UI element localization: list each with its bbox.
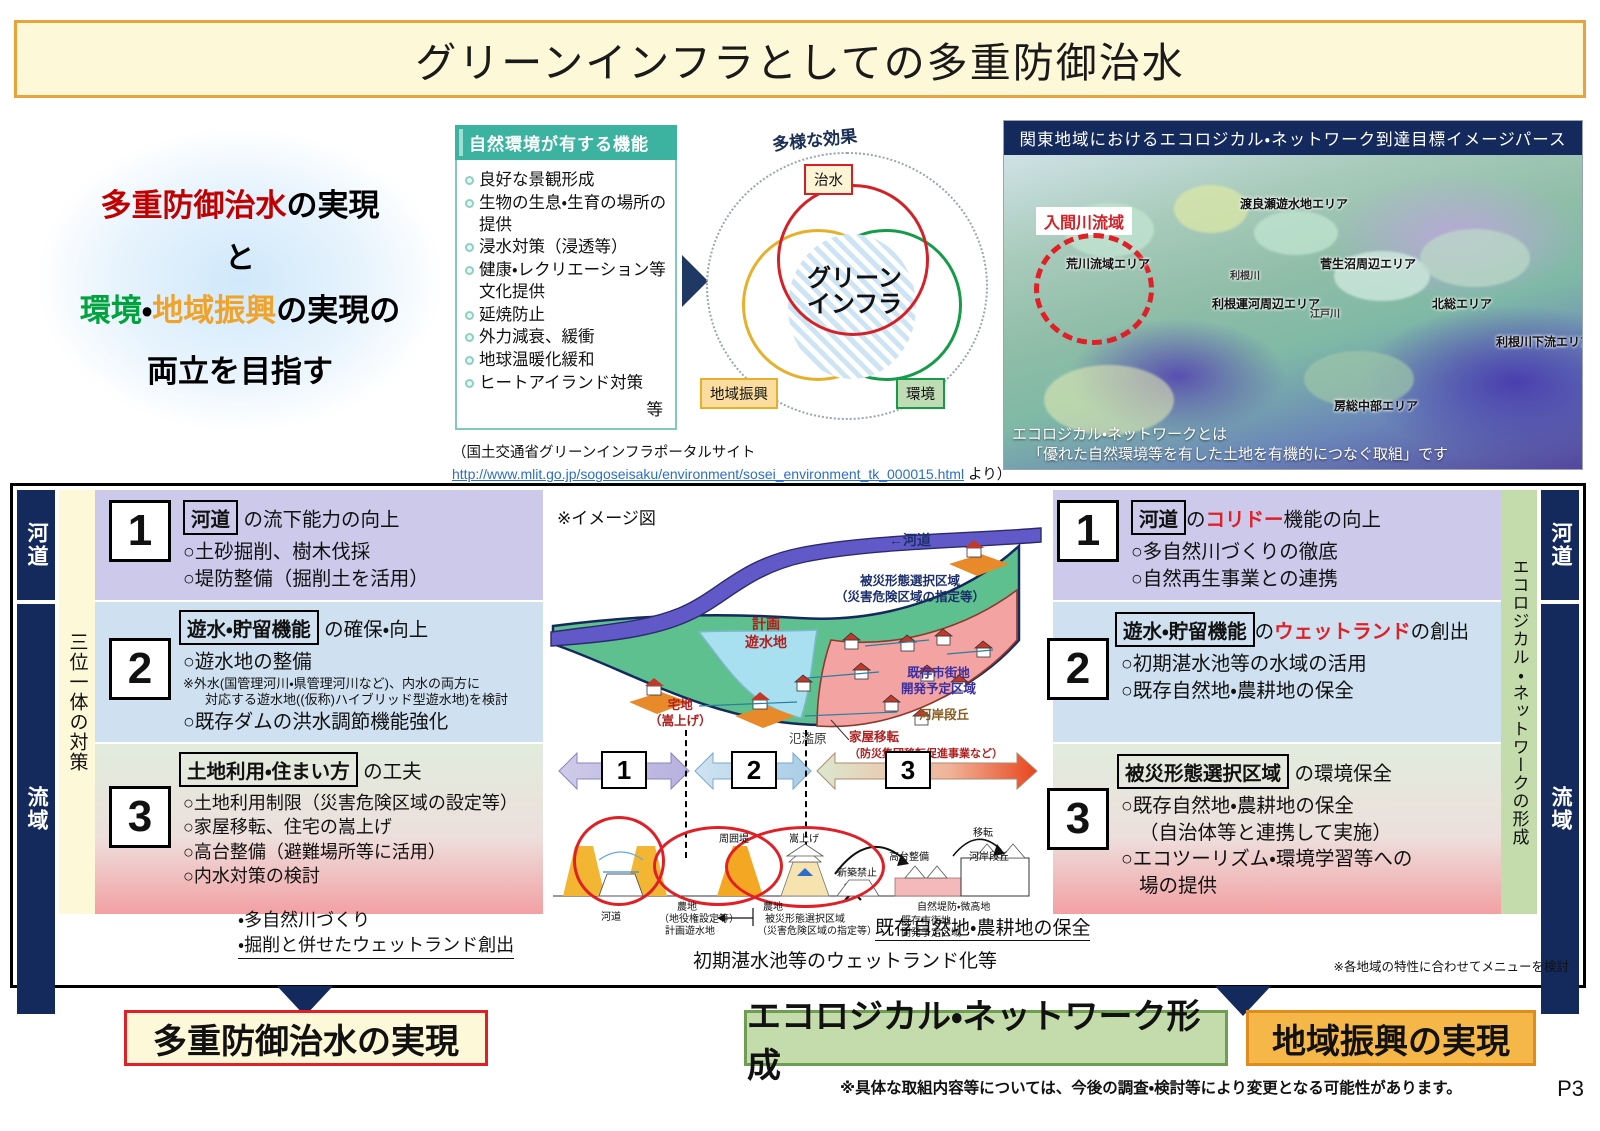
functions-box-body: 良好な景観形成 生物の生息・生育の場所の提供 浸水対策（浸透等） 健康・レクリエ… xyxy=(455,160,677,430)
right-row-2-heading-mid: の xyxy=(1255,621,1275,643)
annotation-left: ・多自然川づくり ・掘削と併せたウェットランド創出 xyxy=(238,908,514,959)
message-line-1: 多重防御治水の実現 xyxy=(30,180,450,225)
venn-tag-environment: 環境 xyxy=(896,378,945,409)
left-row-3-heading: 土地利用・住まい方 の工夫 xyxy=(179,752,518,787)
function-item: 浸水対策（浸透等） xyxy=(465,237,669,259)
function-item-label: 生物の生息・生育の場所の提供 xyxy=(479,193,669,237)
natural-environment-functions-box: 自然環境が有する機能 良好な景観形成 生物の生息・生育の場所の提供 浸水対策（浸… xyxy=(455,125,677,430)
message-line-1-rest: の実現 xyxy=(287,188,380,223)
river-perspective-svg xyxy=(549,520,1047,740)
left-row-2-bullet: ○遊水地の整備 xyxy=(183,649,508,676)
left-measure-row-3: 3 土地利用・住まい方 の工夫 ○土地利用制限（災害危険区域の設定等） ○家屋移… xyxy=(109,752,543,889)
venn-center-line-2: インフラ xyxy=(792,292,917,318)
left-measure-row-1: 1 河道 の流下能力の向上 ○土砂掘削、樹木伐採 ○堤防整備（掘削土を活用） xyxy=(109,500,539,592)
right-row-3-heading: 被災形態選択区域 の環境保全 xyxy=(1117,754,1412,789)
slide-page: グリーンインフラとしての多重防御治水 多重防御治水の実現 と 環境・地域振興の実… xyxy=(0,0,1600,1131)
map-caption: エコロジカル・ネットワークとは 「優れた自然環境等を有した土地を有機的につなぐ取… xyxy=(1012,425,1576,466)
page-title: グリーンインフラとしての多重防御治水 xyxy=(415,29,1185,89)
function-item: ヒートアイランド対策 xyxy=(465,373,669,395)
map-area-label: 荒川流域エリア xyxy=(1066,255,1150,272)
right-row-3-bullet: 場の提供 xyxy=(1121,873,1412,900)
perspective-label-terrace: 河岸段丘 xyxy=(919,708,969,724)
bullet-dot-icon xyxy=(465,199,474,208)
left-row-2-note: ※外水(国管理河川・県管理河川など)、内水の両方に 対応する遊水地((仮称)ハイ… xyxy=(183,676,508,710)
right-row-2-content: 遊水・貯留機能のウェットランドの創出 ○初期湛水池等の水域の活用 ○既存自然地・… xyxy=(1109,612,1469,704)
map-area-label: 利根川下流エリア xyxy=(1496,333,1583,350)
left-row-2-heading: 遊水・貯留機能 の確保・向上 xyxy=(179,610,508,645)
message-line-3-orange: 地域振興 xyxy=(152,293,276,328)
left-row-3-heading-rest: の工夫 xyxy=(363,761,422,783)
function-item-label: 外力減衰、緩衝 xyxy=(479,327,595,349)
map-highlight-dashed-circle xyxy=(1034,233,1154,345)
message-line-3-green: 環境 xyxy=(80,293,142,328)
map-blob xyxy=(1254,211,1338,255)
annotation-right: 既存自然地・農耕地の保全 xyxy=(875,913,1090,941)
right-row-3-tag: 被災形態選択区域 xyxy=(1117,754,1289,789)
left-vbar-basin: 流域 xyxy=(17,604,55,1014)
function-item-label: 地球温暖化緩和 xyxy=(479,350,595,372)
left-row-2-note-line-2: 対応する遊水地((仮称)ハイブリッド型遊水地)を検討 xyxy=(183,692,508,709)
zone-range-arrows: 1 2 3 xyxy=(555,745,1041,797)
perspective-label-existing-city: 既存市街地 開発予定区域 xyxy=(901,666,976,697)
highlight-ellipse-channel xyxy=(573,816,665,906)
left-row-3-bullet: ○高台整備（避難場所等に活用） xyxy=(183,840,518,864)
left-row-2-note-line-1: ※外水(国管理河川・県管理河川など)、内水の両方に xyxy=(183,676,480,691)
zone-arrow-number-2: 2 xyxy=(731,751,777,789)
perspective-label-residential: 宅地 （嵩上げ） xyxy=(649,698,712,729)
page-number: P3 xyxy=(1557,1076,1584,1102)
right-measure-row-3: 3 被災形態選択区域 の環境保全 ○既存自然地・農耕地の保全 （自治体等と連携し… xyxy=(1047,754,1487,899)
bullet-dot-icon xyxy=(465,176,474,185)
right-row-3-bullet: （自治体等と連携して実施） xyxy=(1121,820,1412,847)
venn-center-line-1: グリーン xyxy=(792,266,917,292)
profile-label-natural-levee: 自然堤防・微高地 xyxy=(917,898,990,913)
left-row-3-bullet: ○内水対策の検討 xyxy=(183,864,518,888)
perspective-label-residential-l1: 宅地 xyxy=(668,698,693,712)
left-row-2-heading-rest: の確保・向上 xyxy=(324,619,428,641)
outcome-box-ecological-network: エコロジカル・ネットワーク形成 xyxy=(744,1010,1228,1066)
citation: （国土交通省グリーンインフラポータルサイト http://www.mlit.go… xyxy=(452,443,1011,486)
function-item: 健康・レクリエーション等文化提供 xyxy=(465,260,669,304)
venn-tag-regional: 地域振興 xyxy=(700,378,778,409)
right-row-1-content: 河道のコリドー機能の向上 ○多自然川づくりの徹底 ○自然再生事業との連携 xyxy=(1119,500,1381,592)
outcome-box-flood-control: 多重防御治水の実現 xyxy=(124,1010,488,1066)
annotation-note: ※各地域の特性に合わせてメニューを検討 xyxy=(1334,956,1569,975)
right-measure-row-1: 1 河道のコリドー機能の向上 ○多自然川づくりの徹底 ○自然再生事業との連携 xyxy=(1057,500,1487,592)
message-line-2: と xyxy=(30,233,450,277)
right-row-3-bullet: ○既存自然地・農耕地の保全 xyxy=(1121,793,1412,820)
right-row-1-heading-highlight: コリドー xyxy=(1206,509,1284,531)
right-row-1-bullet: ○自然再生事業との連携 xyxy=(1131,566,1381,593)
citation-line-1: （国土交通省グリーンインフラポータルサイト xyxy=(452,443,1011,464)
left-vbar-river-channel: 河道 xyxy=(17,490,55,600)
function-item-label: 良好な景観形成 xyxy=(479,170,595,192)
right-row-1-number: 1 xyxy=(1057,500,1119,562)
perspective-label-residential-l2: （嵩上げ） xyxy=(649,714,712,728)
profile-label-terrace: 河岸段丘 xyxy=(969,848,1009,863)
perspective-label-river: ←河道 xyxy=(889,532,931,550)
map-river-label: 利根川 xyxy=(1230,267,1260,282)
profile-label-highground: 高台整備 xyxy=(889,848,929,863)
right-row-2-heading: 遊水・貯留機能のウェットランドの創出 xyxy=(1115,612,1469,647)
map-area-label: 渡良瀬遊水地エリア xyxy=(1240,195,1348,212)
left-measure-row-2: 2 遊水・貯留機能 の確保・向上 ○遊水地の整備 ※外水(国管理河川・県管理河川… xyxy=(109,610,543,736)
perspective-label-relocation-l1: 家屋移転 xyxy=(849,730,899,744)
zone-arrow-number-1: 1 xyxy=(601,751,647,789)
map-area-label: 北総エリア xyxy=(1432,295,1492,312)
right-row-3-bullet: ○エコツーリズム・環境学習等への xyxy=(1121,846,1412,873)
profile-label-selected-zone-sub: （災害危険区域の指定等） xyxy=(757,922,877,937)
river-perspective-illustration: ←河道 被災形態選択区域 （災害危険区域の指定等） 計画 遊水地 宅地 （嵩上げ… xyxy=(549,520,1047,740)
map-highlight-label: 入間川流域 xyxy=(1036,207,1132,235)
left-row-1-number: 1 xyxy=(109,500,171,562)
map-header-title: 関東地域におけるエコロジカル・ネットワーク到達目標イメージパース xyxy=(1004,121,1582,155)
left-row-3-content: 土地利用・住まい方 の工夫 ○土地利用制限（災害危険区域の設定等） ○家屋移転、… xyxy=(171,752,518,889)
perspective-label-planned-retarding-l1: 計画 xyxy=(752,616,780,632)
functions-etc-label: 等 xyxy=(465,396,669,420)
right-measure-row-2: 2 遊水・貯留機能のウェットランドの創出 ○初期湛水池等の水域の活用 ○既存自然… xyxy=(1047,612,1487,704)
right-row-1-heading-mid: の xyxy=(1186,509,1206,531)
profile-label-channel: 河道 xyxy=(601,908,621,923)
outcome-box-regional-revitalization: 地域振興の実現 xyxy=(1246,1010,1536,1066)
left-row-3-bullet: ○土地利用制限（災害危険区域の設定等） xyxy=(183,791,518,815)
left-row-2-tag: 遊水・貯留機能 xyxy=(179,610,319,645)
perspective-label-planned-retarding: 計画 遊水地 xyxy=(745,616,787,651)
perspective-label-disaster-zone-l2: （災害危険区域の指定等） xyxy=(835,590,985,604)
function-item-label: 延焼防止 xyxy=(479,305,545,327)
function-item-label: 健康・レクリエーション等文化提供 xyxy=(479,260,669,304)
left-row-3-number: 3 xyxy=(109,786,171,848)
key-message: 多重防御治水の実現 と 環境・地域振興の実現の 両立を目指す xyxy=(30,180,450,391)
bullet-dot-icon xyxy=(465,379,474,388)
bullet-dot-icon xyxy=(465,333,474,342)
center-concept-diagram: ※イメージ図 xyxy=(549,490,1047,930)
map-blob xyxy=(1174,185,1248,233)
left-row-1-tag: 河道 xyxy=(183,500,238,535)
perspective-label-existing-city-l1: 既存市街地 xyxy=(907,666,970,680)
right-row-2-heading-highlight: ウェットランド xyxy=(1274,621,1411,643)
perspective-label-existing-city-l2: 開発予定区域 xyxy=(901,682,976,696)
annotation-left-line-2: ・掘削と併せたウェットランド創出 xyxy=(238,933,514,959)
bullet-dot-icon xyxy=(465,356,474,365)
profile-label-no-new-build: 新築禁止 xyxy=(837,864,877,879)
profile-label-embankment: 周囲堤 xyxy=(719,830,749,845)
profile-label-planned-retarding: 計画遊水地 xyxy=(665,922,715,937)
right-row-2-number: 2 xyxy=(1047,638,1109,700)
kanto-ecological-network-map: 関東地域におけるエコロジカル・ネットワーク到達目標イメージパース 入間川流域 渡… xyxy=(1003,120,1583,470)
cross-section-profile: 周囲堤 嵩上げ 新築禁止 高台整備 移転 河岸段丘 農地 農地 （地役権設定等）… xyxy=(549,800,1047,930)
venn-center-label: グリーン インフラ xyxy=(792,266,917,319)
map-blob xyxy=(1420,229,1530,287)
message-line-1-highlight: 多重防御治水 xyxy=(101,188,287,223)
left-row-2-bullet: ○既存ダムの洪水調節機能強化 xyxy=(183,709,508,736)
left-row-3-bullet: ○家屋移転、住宅の嵩上げ xyxy=(183,815,518,839)
right-row-2-heading-rest: の創出 xyxy=(1411,621,1470,643)
left-row-2-content: 遊水・貯留機能 の確保・向上 ○遊水地の整備 ※外水(国管理河川・県管理河川など… xyxy=(171,610,508,736)
function-item: 生物の生息・生育の場所の提供 xyxy=(465,193,669,237)
map-area-label: 房総中部エリア xyxy=(1334,397,1418,414)
right-row-3-number: 3 xyxy=(1047,788,1109,850)
right-row-1-tag: 河道 xyxy=(1131,500,1186,535)
left-row-2-number: 2 xyxy=(109,638,171,700)
page-title-bar: グリーンインフラとしての多重防御治水 xyxy=(14,20,1586,98)
right-vbar-river-channel: 河道 xyxy=(1541,490,1579,600)
left-vbar-theme: 三位一体の対策 xyxy=(59,490,95,914)
message-line-3-mid: ・ xyxy=(142,293,153,328)
map-area-label: 利根運河周辺エリア xyxy=(1212,295,1320,312)
measures-matrix: 河道 流域 三位一体の対策 1 河道 の流下能力の向上 ○土砂掘削、樹木伐採 ○… xyxy=(10,483,1586,988)
function-item-label: ヒートアイランド対策 xyxy=(479,373,643,395)
left-row-1-heading: 河道 の流下能力の向上 xyxy=(183,500,429,535)
right-row-1-heading-rest: 機能の向上 xyxy=(1284,509,1382,531)
left-row-1-bullet: ○土砂掘削、樹木伐採 xyxy=(183,539,429,566)
function-item: 外力減衰、緩衝 xyxy=(465,327,669,349)
map-caption-line-2: 「優れた自然環境等を有した土地を有機的につなぐ取組」です xyxy=(1012,445,1576,465)
map-area-label: 菅生沼周辺エリア xyxy=(1320,255,1416,272)
footer-note: ※具体な取組内容等については、今後の調査・検討等により変更となる可能性があります… xyxy=(840,1076,1462,1098)
venn-tag-flood-control: 治水 xyxy=(804,164,853,195)
right-row-3-content: 被災形態選択区域 の環境保全 ○既存自然地・農耕地の保全 （自治体等と連携して実… xyxy=(1109,754,1412,899)
right-vbar-basin: 流域 xyxy=(1541,604,1579,1014)
right-row-2-bullet: ○初期湛水池等の水域の活用 xyxy=(1121,651,1469,678)
perspective-label-disaster-zone: 被災形態選択区域 （災害危険区域の指定等） xyxy=(835,574,985,605)
perspective-label-planned-retarding-l2: 遊水地 xyxy=(745,634,787,650)
green-infrastructure-venn-diagram: 多様な効果 グリーン インフラ 治水 地域振興 環境 xyxy=(700,126,1000,426)
function-item-label: 浸水対策（浸透等） xyxy=(479,237,628,259)
function-item: 延焼防止 xyxy=(465,305,669,327)
function-item: 良好な景観形成 xyxy=(465,170,669,192)
map-caption-line-1: エコロジカル・ネットワークとは xyxy=(1012,425,1576,445)
right-row-1-heading: 河道のコリドー機能の向上 xyxy=(1131,500,1381,535)
right-vbar-theme: エコロジカル・ネットワークの形成 xyxy=(1501,490,1537,914)
bullet-dot-icon xyxy=(465,311,474,320)
perspective-label-disaster-zone-l1: 被災形態選択区域 xyxy=(860,574,960,588)
functions-box-header: 自然環境が有する機能 xyxy=(455,125,677,160)
left-row-1-bullet: ○堤防整備（掘削土を活用） xyxy=(183,566,429,593)
message-line-4: 両立を目指す xyxy=(30,346,450,391)
left-row-1-content: 河道 の流下能力の向上 ○土砂掘削、樹木伐採 ○堤防整備（掘削土を活用） xyxy=(171,500,429,592)
profile-label-relocate: 移転 xyxy=(973,824,993,839)
left-row-1-heading-rest: の流下能力の向上 xyxy=(243,509,399,531)
function-item: 地球温暖化緩和 xyxy=(465,350,669,372)
citation-url-link[interactable]: http://www.mlit.go.jp/sogoseisaku/enviro… xyxy=(452,466,964,482)
bullet-dot-icon xyxy=(465,243,474,252)
message-line-3-rest: の実現の xyxy=(276,293,400,328)
venn-top-label: 多様な効果 xyxy=(771,122,858,156)
right-row-3-heading-rest: の環境保全 xyxy=(1294,763,1392,785)
right-row-2-tag: 遊水・貯留機能 xyxy=(1115,612,1255,647)
right-row-2-bullet: ○既存自然地・農耕地の保全 xyxy=(1121,678,1469,705)
zone-arrow-number-3: 3 xyxy=(885,751,931,789)
profile-label-raise: 嵩上げ xyxy=(789,830,819,845)
map-illustration: 入間川流域 渡良瀬遊水地エリア 荒川流域エリア 菅生沼周辺エリア 利根運河周辺エ… xyxy=(1004,155,1583,470)
annotation-left-line-1: ・多自然川づくり xyxy=(238,908,514,933)
map-river-label: 江戸川 xyxy=(1310,305,1340,320)
message-line-3: 環境・地域振興の実現の xyxy=(30,285,450,330)
bullet-dot-icon xyxy=(465,266,474,275)
annotation-center: 初期湛水池等のウェットランド化等 xyxy=(693,946,997,973)
left-row-3-tag: 土地利用・住まい方 xyxy=(179,752,358,787)
right-row-1-bullet: ○多自然川づくりの徹底 xyxy=(1131,539,1381,566)
